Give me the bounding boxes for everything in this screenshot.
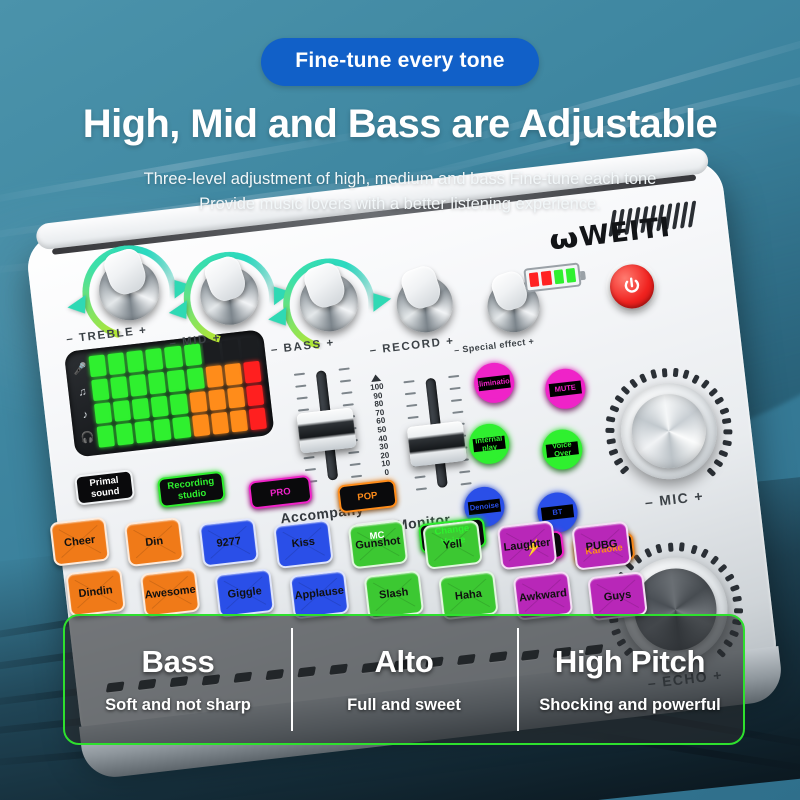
header-block: Fine-tune every tone High, Mid and Bass … bbox=[0, 0, 800, 217]
button-label: Internal play bbox=[472, 434, 506, 454]
vu-led bbox=[249, 408, 267, 430]
fader-tick bbox=[343, 403, 354, 406]
vu-led bbox=[186, 367, 204, 389]
button-label: BT bbox=[552, 508, 563, 517]
vu-icon: ♫ bbox=[72, 380, 93, 405]
subtitle-line-1: Three-level adjustment of high, medium a… bbox=[0, 167, 800, 192]
overlay-title: Alto bbox=[374, 644, 433, 680]
overlay-column-high-pitch: High Pitch Shocking and powerful bbox=[517, 616, 743, 743]
battery-cell bbox=[553, 269, 564, 284]
vu-led bbox=[227, 386, 245, 408]
vu-led bbox=[110, 376, 128, 398]
plus-sign: + bbox=[525, 336, 535, 347]
pad-pubg[interactable]: PUBG bbox=[571, 521, 632, 571]
marketing-banner: Fine-tune every tone High, Mid and Bass … bbox=[0, 0, 800, 800]
vu-led bbox=[88, 355, 106, 377]
fader-tick bbox=[294, 373, 305, 376]
page-title: High, Mid and Bass are Adjustable bbox=[0, 102, 800, 147]
vu-led bbox=[145, 348, 163, 370]
brand-mark-icon: ω bbox=[547, 222, 581, 256]
fader-tick bbox=[408, 416, 419, 419]
vu-led bbox=[246, 384, 264, 406]
vu-led bbox=[224, 363, 242, 385]
power-icon bbox=[620, 274, 644, 298]
button-label: Recording studio bbox=[159, 475, 223, 504]
vu-led bbox=[116, 423, 134, 445]
scale-arrow-icon bbox=[370, 374, 381, 382]
fader-tick bbox=[295, 385, 306, 388]
pad-applause[interactable]: Applause bbox=[289, 569, 350, 619]
subtitle-line-2: Provide music lovers with a better liste… bbox=[0, 192, 800, 217]
pad-awesome[interactable]: Awesome bbox=[140, 568, 201, 618]
vu-led bbox=[151, 395, 169, 417]
pad-slash[interactable]: Slash bbox=[364, 570, 425, 620]
fader-tick bbox=[297, 396, 308, 399]
vu-meter-grid bbox=[88, 337, 266, 448]
button-label: POP bbox=[357, 490, 378, 503]
fader-tick bbox=[451, 399, 462, 402]
fader-tick bbox=[405, 392, 416, 395]
vu-led bbox=[208, 389, 226, 411]
fader-tick bbox=[448, 375, 459, 378]
fader-handle-accompany[interactable] bbox=[296, 407, 356, 453]
pad-dindin[interactable]: Dindin bbox=[65, 567, 126, 617]
vu-led bbox=[154, 419, 172, 441]
battery-cell bbox=[541, 271, 552, 286]
battery-cell bbox=[565, 268, 576, 283]
pad-cheer[interactable]: Cheer bbox=[49, 517, 110, 567]
fader-tick bbox=[403, 380, 414, 383]
vu-icon: 🎤 bbox=[70, 357, 91, 382]
fader-tick bbox=[406, 404, 417, 407]
plus-sign: + bbox=[207, 332, 221, 345]
vu-led bbox=[173, 417, 191, 439]
knob-mic[interactable] bbox=[616, 378, 722, 484]
pad-laughter[interactable]: Laughter bbox=[497, 520, 558, 570]
fader-tick bbox=[414, 475, 425, 478]
knob-record[interactable] bbox=[394, 273, 456, 335]
vu-led bbox=[91, 378, 109, 400]
pad-giggle[interactable]: Giggle bbox=[214, 568, 275, 618]
fader-tick bbox=[304, 456, 315, 459]
pad-label: Din bbox=[145, 536, 164, 549]
vu-led bbox=[135, 421, 153, 443]
vu-icon: ♪ bbox=[75, 403, 96, 428]
pad-din[interactable]: Din bbox=[124, 517, 185, 567]
vu-led bbox=[126, 350, 144, 372]
fader-tick bbox=[340, 379, 351, 382]
fader-tick bbox=[341, 391, 352, 394]
fader-tick bbox=[305, 468, 316, 471]
tick bbox=[662, 368, 668, 377]
plus-sign: + bbox=[688, 488, 705, 506]
pad-hahaha[interactable]: Haha bbox=[438, 570, 499, 620]
vu-led bbox=[129, 374, 147, 396]
plus-sign: + bbox=[134, 324, 148, 337]
tick bbox=[672, 368, 678, 377]
overlay-desc: Shocking and powerful bbox=[539, 696, 721, 715]
vu-led bbox=[97, 425, 115, 447]
vu-led bbox=[132, 397, 150, 419]
tick bbox=[668, 542, 674, 551]
tick bbox=[621, 386, 631, 396]
overlay-desc: Soft and not sharp bbox=[105, 696, 251, 715]
vu-led bbox=[167, 369, 185, 391]
fader-handle-monitor[interactable] bbox=[407, 421, 467, 467]
fader-tick bbox=[298, 408, 309, 411]
knob-mid[interactable] bbox=[197, 264, 261, 328]
vu-led bbox=[113, 400, 131, 422]
tick bbox=[700, 380, 709, 390]
overlay-column-alto: Alto Full and sweet bbox=[291, 616, 517, 743]
plus-sign: + bbox=[321, 337, 335, 350]
fader-tick bbox=[459, 470, 470, 473]
fader-tick bbox=[350, 463, 361, 466]
vu-led bbox=[189, 391, 207, 413]
battery-cell bbox=[529, 272, 540, 287]
tick bbox=[723, 430, 732, 435]
vu-led bbox=[230, 410, 248, 432]
fader-tick bbox=[339, 367, 350, 370]
header-subtitle: Three-level adjustment of high, medium a… bbox=[0, 167, 800, 217]
tick bbox=[605, 428, 614, 433]
fader-tick bbox=[348, 451, 359, 454]
vu-led bbox=[205, 365, 223, 387]
header-badge: Fine-tune every tone bbox=[261, 38, 538, 86]
vu-led bbox=[240, 337, 258, 359]
knob-treble[interactable] bbox=[96, 257, 162, 323]
knob-bass[interactable] bbox=[297, 270, 361, 334]
fader-tick bbox=[450, 387, 461, 390]
feature-overlay-panel: Bass Soft and not sharp Alto Full and sw… bbox=[63, 614, 745, 745]
tick bbox=[710, 555, 719, 565]
knob-label-text: MIC bbox=[658, 489, 690, 508]
pad-gunshot[interactable]: Gunshot bbox=[348, 519, 409, 569]
tick bbox=[734, 608, 743, 613]
fader-tick bbox=[452, 411, 463, 414]
button-label: PRO bbox=[269, 486, 291, 499]
vu-icon: 🎧 bbox=[78, 426, 99, 451]
vu-led bbox=[211, 412, 229, 434]
overlay-column-bass: Bass Soft and not sharp bbox=[65, 616, 291, 743]
vu-led bbox=[94, 402, 112, 424]
overlay-title: Bass bbox=[142, 644, 215, 680]
vu-led bbox=[107, 352, 125, 374]
vu-led bbox=[221, 339, 239, 361]
overlay-desc: Full and sweet bbox=[347, 696, 461, 715]
vu-led bbox=[192, 414, 210, 436]
vu-led bbox=[170, 393, 188, 415]
button-label: Primal sound bbox=[77, 473, 133, 501]
button-label: Voice Over bbox=[546, 440, 580, 460]
pad-9277[interactable]: 9277 bbox=[198, 518, 259, 568]
vu-led bbox=[148, 372, 166, 394]
pad-kiss[interactable]: Kiss bbox=[273, 518, 334, 568]
pad-label: Yell bbox=[442, 538, 462, 551]
overlay-title: High Pitch bbox=[555, 644, 705, 680]
vu-led bbox=[243, 361, 261, 383]
